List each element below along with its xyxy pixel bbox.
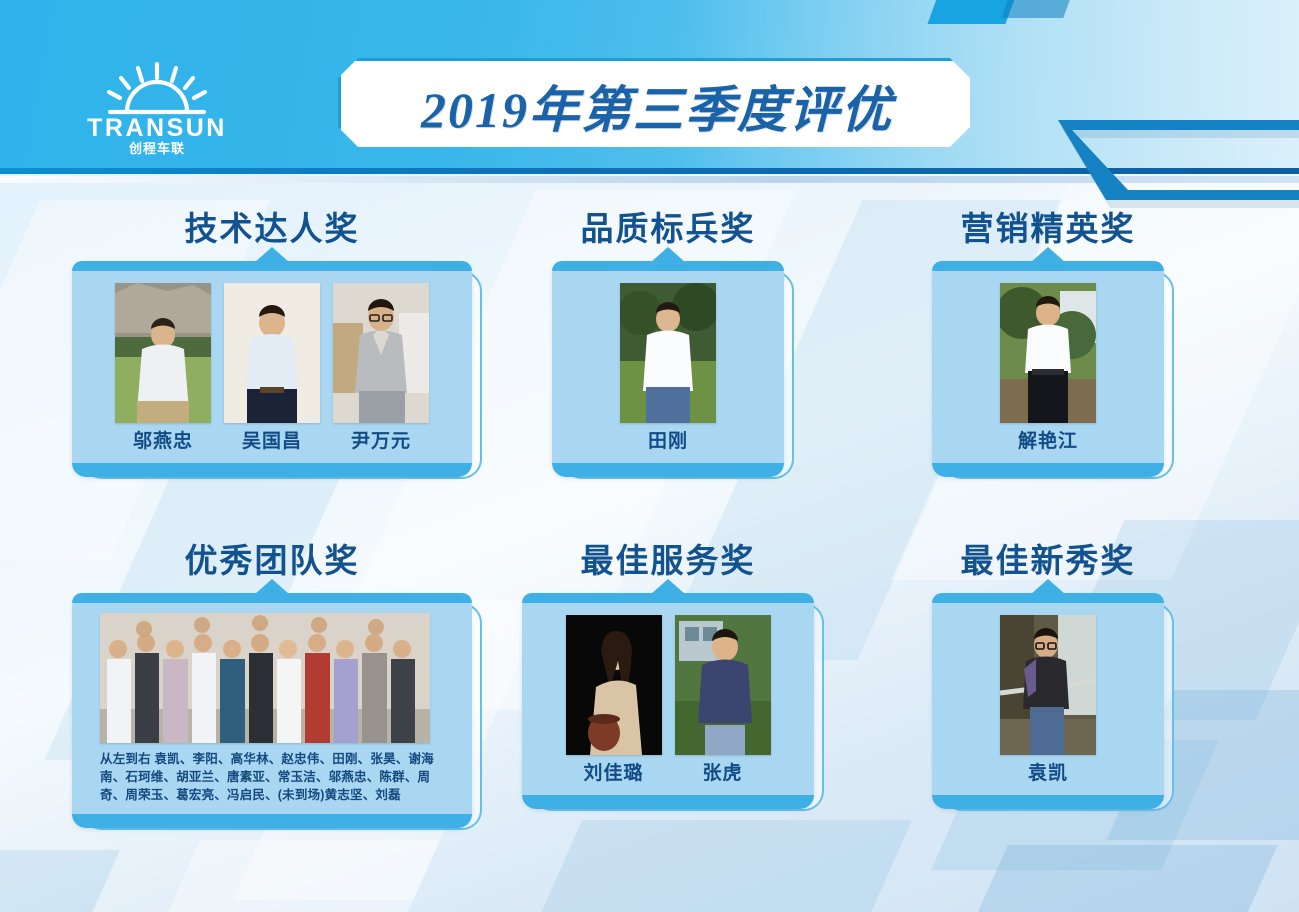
brand-name-cn: 创程车联	[72, 142, 242, 155]
award-block-quality: 品质标兵奖	[552, 212, 784, 477]
card-bottom-bar	[522, 795, 814, 809]
person-entry: 邬燕忠	[115, 283, 211, 451]
award-block-service: 最佳服务奖	[522, 544, 814, 809]
person-photo	[566, 615, 662, 755]
award-card[interactable]: 解艳江	[932, 261, 1164, 477]
person-name: 刘佳璐	[583, 764, 643, 783]
person-photo	[1000, 615, 1096, 755]
award-title: 品质标兵奖	[552, 212, 784, 245]
person-name: 袁凯	[1028, 764, 1068, 783]
award-card-wrap: 从左到右 袁凯、李阳、高华林、赵忠伟、田刚、张昊、谢海南、石珂维、胡亚兰、唐素亚…	[72, 593, 472, 828]
brand-name-en: TRANSUN	[72, 116, 242, 141]
person-photo	[333, 283, 429, 423]
award-block-tech: 技术达人奖	[72, 212, 472, 477]
card-bottom-bar	[72, 814, 472, 828]
sunrise-icon	[72, 62, 242, 118]
person-entry: 解艳江	[1000, 283, 1096, 451]
award-block-team: 优秀团队奖	[72, 544, 472, 828]
award-title: 最佳新秀奖	[932, 544, 1164, 577]
card-bottom-bar	[72, 463, 472, 477]
award-title: 优秀团队奖	[72, 544, 472, 577]
poster-title-banner: 2019年第三季度评优	[338, 58, 976, 153]
person-entry: 吴国昌	[224, 283, 320, 451]
card-pointer-triangle	[255, 579, 289, 594]
award-card[interactable]: 袁凯	[932, 593, 1164, 809]
award-card[interactable]: 邬燕忠	[72, 261, 472, 477]
person-name: 张虎	[702, 764, 742, 783]
brand-logo[interactable]: TRANSUN 创程车联	[72, 62, 242, 158]
person-name: 吴国昌	[242, 432, 302, 451]
award-block-rookie: 最佳新秀奖	[932, 544, 1164, 809]
person-entry: 张虎	[675, 615, 771, 783]
awards-grid: 技术达人奖	[0, 196, 1299, 876]
person-photo	[675, 615, 771, 755]
award-block-sales: 营销精英奖	[932, 212, 1164, 477]
card-bottom-bar	[552, 463, 784, 477]
team-photo	[100, 613, 430, 743]
card-pointer-triangle	[1031, 579, 1065, 594]
card-bottom-bar	[932, 795, 1164, 809]
team-caption: 从左到右 袁凯、李阳、高华林、赵忠伟、田刚、张昊、谢海南、石珂维、胡亚兰、唐素亚…	[100, 751, 436, 804]
card-pointer-triangle	[255, 247, 289, 262]
person-photo	[224, 283, 320, 423]
person-entry: 田刚	[620, 283, 716, 451]
award-card[interactable]: 刘佳璐	[522, 593, 814, 809]
award-title: 最佳服务奖	[522, 544, 814, 577]
card-pointer-triangle	[651, 579, 685, 594]
person-entry: 袁凯	[1000, 615, 1096, 783]
person-photo	[115, 283, 211, 423]
person-entry: 尹万元	[333, 283, 429, 451]
page-title: 2019年第三季度评优	[421, 70, 893, 142]
person-entry: 刘佳璐	[566, 615, 662, 783]
award-card[interactable]: 从左到右 袁凯、李阳、高华林、赵忠伟、田刚、张昊、谢海南、石珂维、胡亚兰、唐素亚…	[72, 593, 472, 828]
person-photo	[1000, 283, 1096, 423]
award-card-wrap: 邬燕忠	[72, 261, 472, 477]
award-card-wrap: 袁凯	[932, 593, 1164, 809]
card-bottom-bar	[932, 463, 1164, 477]
person-name: 尹万元	[351, 432, 411, 451]
card-pointer-triangle	[651, 247, 685, 262]
award-title: 技术达人奖	[72, 212, 472, 245]
person-name: 邬燕忠	[133, 432, 193, 451]
card-pointer-triangle	[1031, 247, 1065, 262]
person-photo	[620, 283, 716, 423]
award-card-wrap: 刘佳璐	[522, 593, 814, 809]
awards-row-2: 优秀团队奖	[0, 536, 1299, 876]
award-title: 营销精英奖	[932, 212, 1164, 245]
award-card[interactable]: 田刚	[552, 261, 784, 477]
award-card-wrap: 解艳江	[932, 261, 1164, 477]
chevron-decoration	[1058, 120, 1299, 200]
award-card-wrap: 田刚	[552, 261, 784, 477]
awards-row-1: 技术达人奖	[0, 196, 1299, 536]
poster-root: TRANSUN 创程车联 2019年第三季度评优 技术达人奖	[0, 0, 1299, 912]
person-name: 解艳江	[1018, 432, 1078, 451]
person-name: 田刚	[648, 432, 688, 451]
